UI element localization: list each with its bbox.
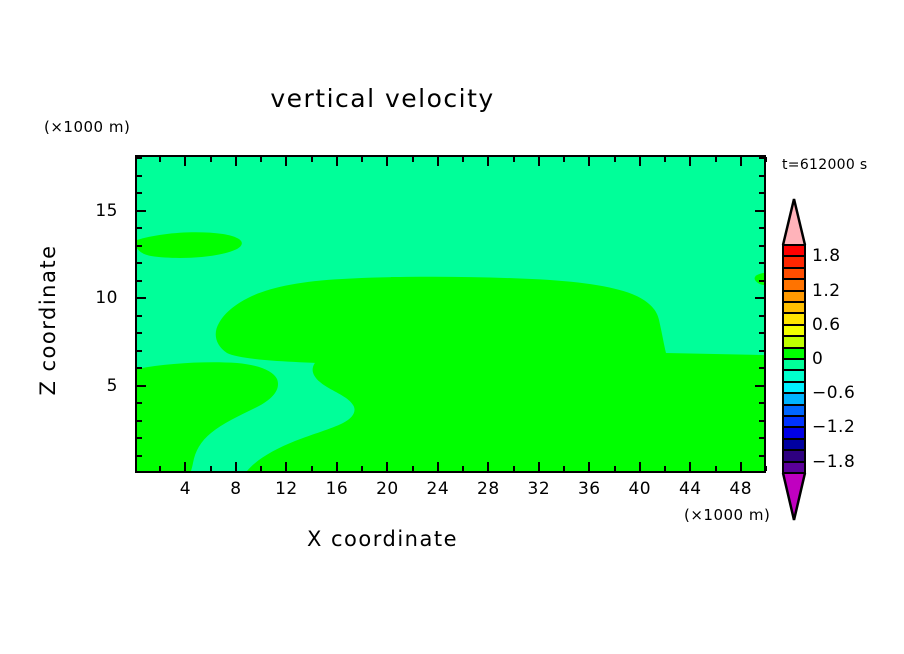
time-annotation: t=612000 s [782,157,867,173]
x-axis-minor-tick [614,157,616,162]
y-axis-minor-tick [759,367,764,369]
x-axis-minor-tick [210,466,212,471]
y-axis-minor-tick [759,315,764,317]
y-axis-minor-tick [137,350,142,352]
x-axis-major-tick [285,462,287,471]
colorbar-tick-label: 0.6 [812,315,841,335]
colorbar-tick-label: 0 [812,349,823,369]
y-axis-minor-tick [759,245,764,247]
x-axis-minor-tick [361,157,363,162]
y-axis-major-tick [137,385,146,387]
x-axis-tick-label: 24 [427,479,450,499]
x-axis-minor-tick [765,157,767,162]
colorbar-tick-label: −0.6 [812,383,855,403]
colorbar-band-divider [783,301,805,303]
colorbar-tick-label: 1.2 [812,281,841,301]
x-axis-major-tick [740,462,742,471]
x-axis-minor-tick [210,157,212,162]
x-axis-major-tick [184,462,186,471]
x-axis-major-tick [386,157,388,166]
colorbar-band-divider [783,347,805,349]
x-axis-minor-tick [563,157,565,162]
y-axis-minor-tick [137,332,142,334]
y-axis-tick-label: 15 [0,201,118,221]
y-axis-minor-tick [137,157,142,159]
colorbar-band-divider [783,461,805,463]
x-axis-minor-tick [159,157,161,162]
y-axis-minor-tick [137,262,142,264]
colorbar-tick-label: 1.8 [812,246,841,266]
y-axis-minor-tick [137,402,142,404]
colorbar-band-divider [783,449,805,451]
y-axis-minor-tick [759,280,764,282]
x-axis-minor-tick [563,466,565,471]
x-axis-tick-label: 32 [528,479,551,499]
colorbar-band [783,462,805,474]
page-title: vertical velocity [0,84,765,113]
x-axis-tick-label: 4 [180,479,191,499]
y-axis-minor-tick [137,245,142,247]
y-axis-title: Z coordinate [36,210,60,430]
y-axis-minor-tick [759,175,764,177]
y-axis-major-tick [137,297,146,299]
colorbar-tick-label: −1.2 [812,417,855,437]
colorbar-band-divider [783,290,805,292]
colorbar-band-divider [783,392,805,394]
y-axis-minor-tick [759,402,764,404]
colorbar-band-divider [783,267,805,269]
x-axis-major-tick [235,462,237,471]
x-axis-tick-label: 48 [729,479,752,499]
y-axis-minor-tick [137,227,142,229]
x-axis-major-tick [538,157,540,166]
x-axis-major-tick [538,462,540,471]
x-axis-major-tick [588,157,590,166]
x-axis-tick-label: 44 [679,479,702,499]
x-axis-minor-tick [513,466,515,471]
y-axis-tick-label: 5 [0,376,118,396]
y-axis-minor-tick [759,192,764,194]
colorbar[interactable] [783,245,805,473]
colorbar-tick-label: −1.8 [812,452,855,472]
y-axis-minor-tick [137,192,142,194]
x-axis-minor-tick [159,466,161,471]
y-axis-minor-tick [759,227,764,229]
colorbar-under-arrow [783,474,805,520]
x-axis-minor-tick [361,466,363,471]
x-axis-minor-tick [462,466,464,471]
contour-plot-area [135,155,766,473]
x-axis-minor-tick [311,466,313,471]
y-axis-minor-tick [759,332,764,334]
x-axis-minor-tick [614,466,616,471]
x-axis-major-tick [336,157,338,166]
x-axis-minor-tick [715,157,717,162]
x-axis-title: X coordinate [0,527,765,551]
y-axis-minor-tick [759,262,764,264]
x-axis-tick-label: 16 [326,479,349,499]
colorbar-band-divider [783,438,805,440]
x-axis-major-tick [235,157,237,166]
y-axis-major-tick [137,210,146,212]
colorbar-band-divider [783,358,805,360]
x-axis-major-tick [437,157,439,166]
colorbar-band-divider [783,312,805,314]
x-axis-minor-tick [412,157,414,162]
x-axis-major-tick [639,157,641,166]
y-axis-major-tick [755,297,764,299]
y-axis-minor-tick [137,437,142,439]
x-axis-minor-tick [412,466,414,471]
colorbar-band-divider [783,415,805,417]
colorbar-band-divider [783,426,805,428]
y-axis-units-label: (×1000 m) [44,118,130,136]
x-axis-major-tick [285,157,287,166]
x-axis-major-tick [639,462,641,471]
y-axis-major-tick [755,210,764,212]
contour-field-svg [137,157,764,471]
colorbar-band-divider [783,381,805,383]
x-axis-major-tick [740,157,742,166]
x-axis-tick-label: 12 [275,479,298,499]
y-axis-minor-tick [137,280,142,282]
x-axis-minor-tick [664,466,666,471]
x-axis-tick-label: 8 [230,479,241,499]
x-axis-minor-tick [715,466,717,471]
x-axis-minor-tick [765,466,767,471]
x-axis-major-tick [588,462,590,471]
y-axis-minor-tick [759,437,764,439]
x-axis-tick-label: 28 [477,479,500,499]
colorbar-band-divider [783,278,805,280]
x-axis-units-label: (×1000 m) [684,506,770,524]
x-axis-minor-tick [260,466,262,471]
y-axis-minor-tick [137,315,142,317]
colorbar-band-divider [783,335,805,337]
x-axis-minor-tick [664,157,666,162]
x-axis-tick-label: 40 [628,479,651,499]
x-axis-major-tick [184,157,186,166]
x-axis-minor-tick [462,157,464,162]
x-axis-major-tick [386,462,388,471]
x-axis-major-tick [437,462,439,471]
colorbar-band-divider [783,255,805,257]
y-axis-minor-tick [759,350,764,352]
x-axis-major-tick [689,157,691,166]
x-axis-tick-label: 36 [578,479,601,499]
x-axis-major-tick [689,462,691,471]
y-axis-minor-tick [759,157,764,159]
y-axis-tick-label: 10 [0,288,118,308]
colorbar-band-divider [783,369,805,371]
x-axis-major-tick [336,462,338,471]
x-axis-minor-tick [513,157,515,162]
x-axis-major-tick [487,462,489,471]
colorbar-band-divider [783,324,805,326]
colorbar-band-divider [783,404,805,406]
y-axis-minor-tick [759,455,764,457]
y-axis-minor-tick [137,367,142,369]
y-axis-minor-tick [759,420,764,422]
x-axis-minor-tick [260,157,262,162]
y-axis-minor-tick [137,455,142,457]
y-axis-minor-tick [137,420,142,422]
x-axis-tick-label: 20 [376,479,399,499]
y-axis-minor-tick [137,175,142,177]
colorbar-over-arrow [783,199,805,245]
x-axis-major-tick [487,157,489,166]
y-axis-major-tick [755,385,764,387]
x-axis-minor-tick [311,157,313,162]
